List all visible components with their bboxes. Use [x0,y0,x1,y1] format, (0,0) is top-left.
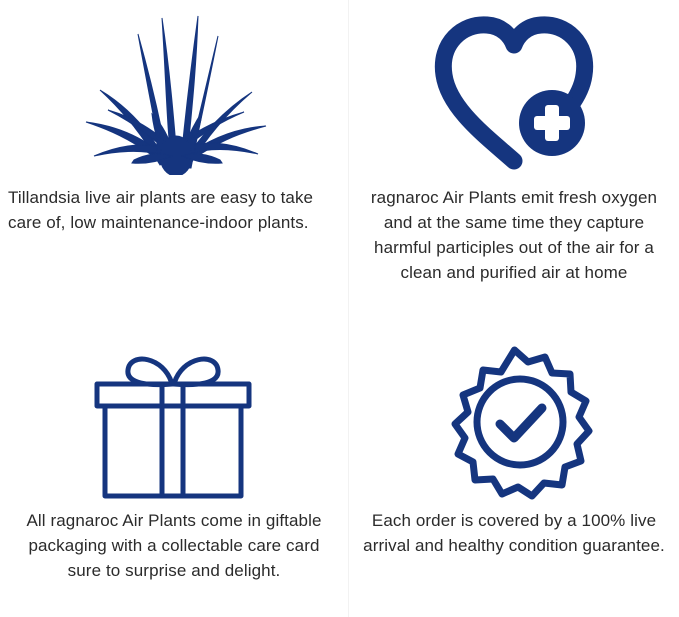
feature-panel-live-arrival-guarantee: Each order is covered by a 100% live arr… [348,308,679,617]
feature-panel-giftable-packaging: All ragnaroc Air Plants come in giftable… [0,308,348,617]
verified-badge-check-icon [349,308,679,508]
feature-panel-air-plant: Tillandsia live air plants are easy to t… [0,0,348,308]
feature-caption: ragnaroc Air Plants emit fresh oxygen an… [349,185,679,285]
tillandsia-air-plant-icon [0,0,348,185]
heart-plus-icon [349,0,679,185]
feature-caption: Tillandsia live air plants are easy to t… [0,185,348,235]
feature-caption: All ragnaroc Air Plants come in giftable… [0,508,348,583]
feature-panel-fresh-oxygen: ragnaroc Air Plants emit fresh oxygen an… [348,0,679,308]
feature-caption: Each order is covered by a 100% live arr… [349,508,679,558]
gift-box-icon [0,308,348,508]
feature-grid: Tillandsia live air plants are easy to t… [0,0,679,617]
